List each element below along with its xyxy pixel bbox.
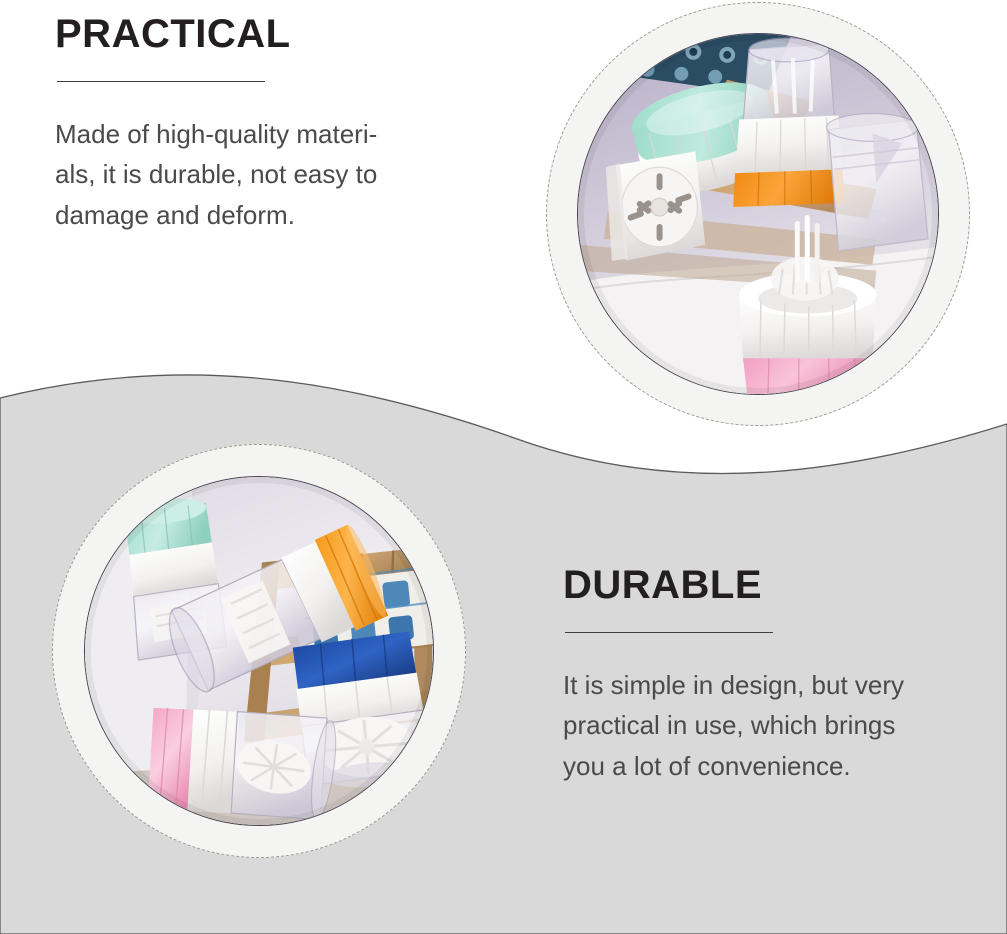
practical-body: Made of high-quality materi-als, it is d… [55, 114, 475, 235]
section-durable: DURABLE It is simple in design, but very… [563, 563, 983, 786]
practical-heading: PRACTICAL [55, 12, 475, 56]
vented-cap-disc [606, 151, 705, 260]
photo-bottom-art [85, 477, 433, 825]
durable-body-line-2: practical in use, which brings [563, 710, 895, 740]
durable-body-line-1: It is simple in design, but very [563, 670, 904, 700]
product-feature-poster: PRACTICAL Made of high-quality materi-al… [0, 0, 1007, 934]
photo-top [577, 33, 939, 395]
durable-heading: DURABLE [563, 563, 983, 607]
photo-bottom [84, 476, 434, 826]
practical-body-line-2: als, it is durable, not easy to [55, 159, 377, 189]
practical-body-line-3: damage and deform. [55, 200, 295, 230]
section-practical: PRACTICAL Made of high-quality materi-al… [55, 12, 475, 235]
photo-medallion-bottom [52, 444, 466, 858]
photo-medallion-top [546, 2, 970, 426]
practical-rule [57, 81, 265, 82]
photo-top-art [578, 34, 938, 394]
durable-body-line-3: you a lot of convenience. [563, 751, 851, 781]
practical-body-line-1: Made of high-quality materi- [55, 119, 377, 149]
orange-lens-case [733, 38, 844, 207]
durable-rule [565, 632, 773, 633]
durable-body: It is simple in design, but verypractica… [563, 665, 983, 786]
